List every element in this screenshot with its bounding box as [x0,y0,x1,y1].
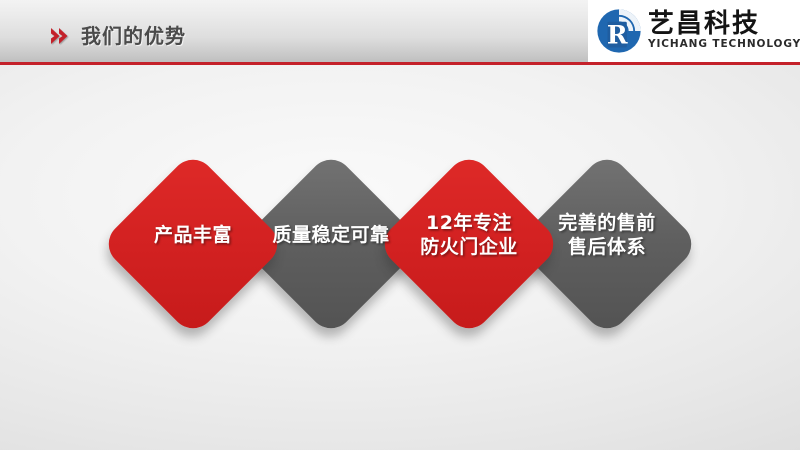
brand-logo-text: 艺昌科技 YICHANG TECHNOLOGY [648,11,800,51]
page-title-group: 我们的优势 [50,20,186,52]
brand-logo[interactable]: R 艺昌科技 YICHANG TECHNOLOGY [588,0,800,62]
diamond-shape-1[interactable] [100,151,287,338]
diamond-group: 产品丰富 质量稳定可靠 12年专注 防火门企业 完善的售前 售后体系 [0,65,800,450]
slide-root: 我们的优势 R 艺昌科技 YICHANG TECHNOLOGY 产品丰富 质量稳… [0,0,800,450]
svg-text:R: R [607,20,628,49]
double-chevron-right-icon [50,25,72,47]
page-title: 我们的优势 [81,26,186,46]
content-stage: 产品丰富 质量稳定可靠 12年专注 防火门企业 完善的售前 售后体系 [0,65,800,450]
diamond-shape-3[interactable] [376,151,563,338]
brand-name-cn: 艺昌科技 [648,11,800,38]
brand-name-en: YICHANG TECHNOLOGY [648,38,800,51]
circle-r-wave-logo-icon: R [596,8,642,54]
